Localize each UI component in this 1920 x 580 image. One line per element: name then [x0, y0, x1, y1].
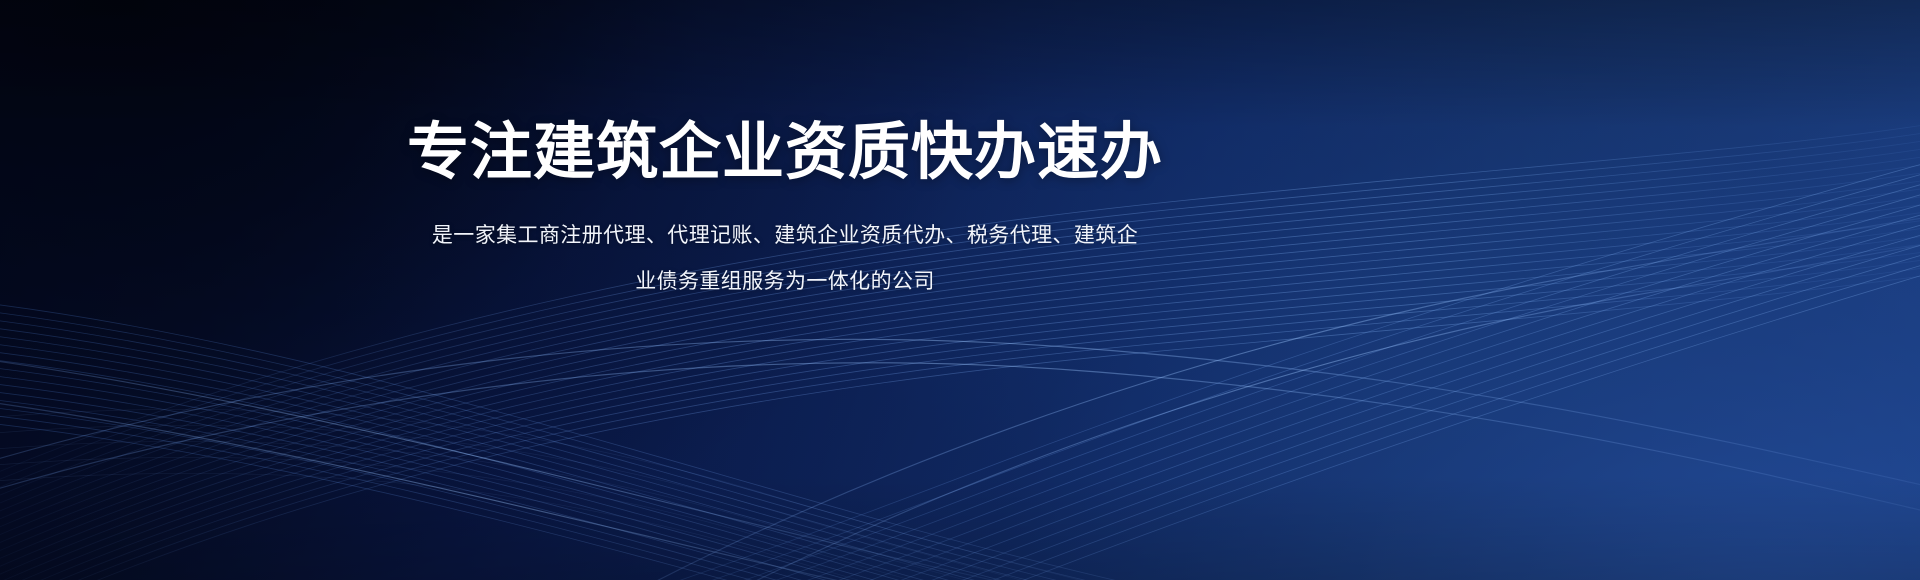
hero-banner: 专注建筑企业资质快办速办 是一家集工商注册代理、代理记账、建筑企业资质代办、税务…	[0, 0, 1920, 580]
page-title: 专注建筑企业资质快办速办	[407, 118, 1163, 187]
banner-subtitle: 是一家集工商注册代理、代理记账、建筑企业资质代办、税务代理、建筑企业债务重组服务…	[425, 187, 1145, 305]
banner-content: 专注建筑企业资质快办速办 是一家集工商注册代理、代理记账、建筑企业资质代办、税务…	[0, 0, 1570, 580]
